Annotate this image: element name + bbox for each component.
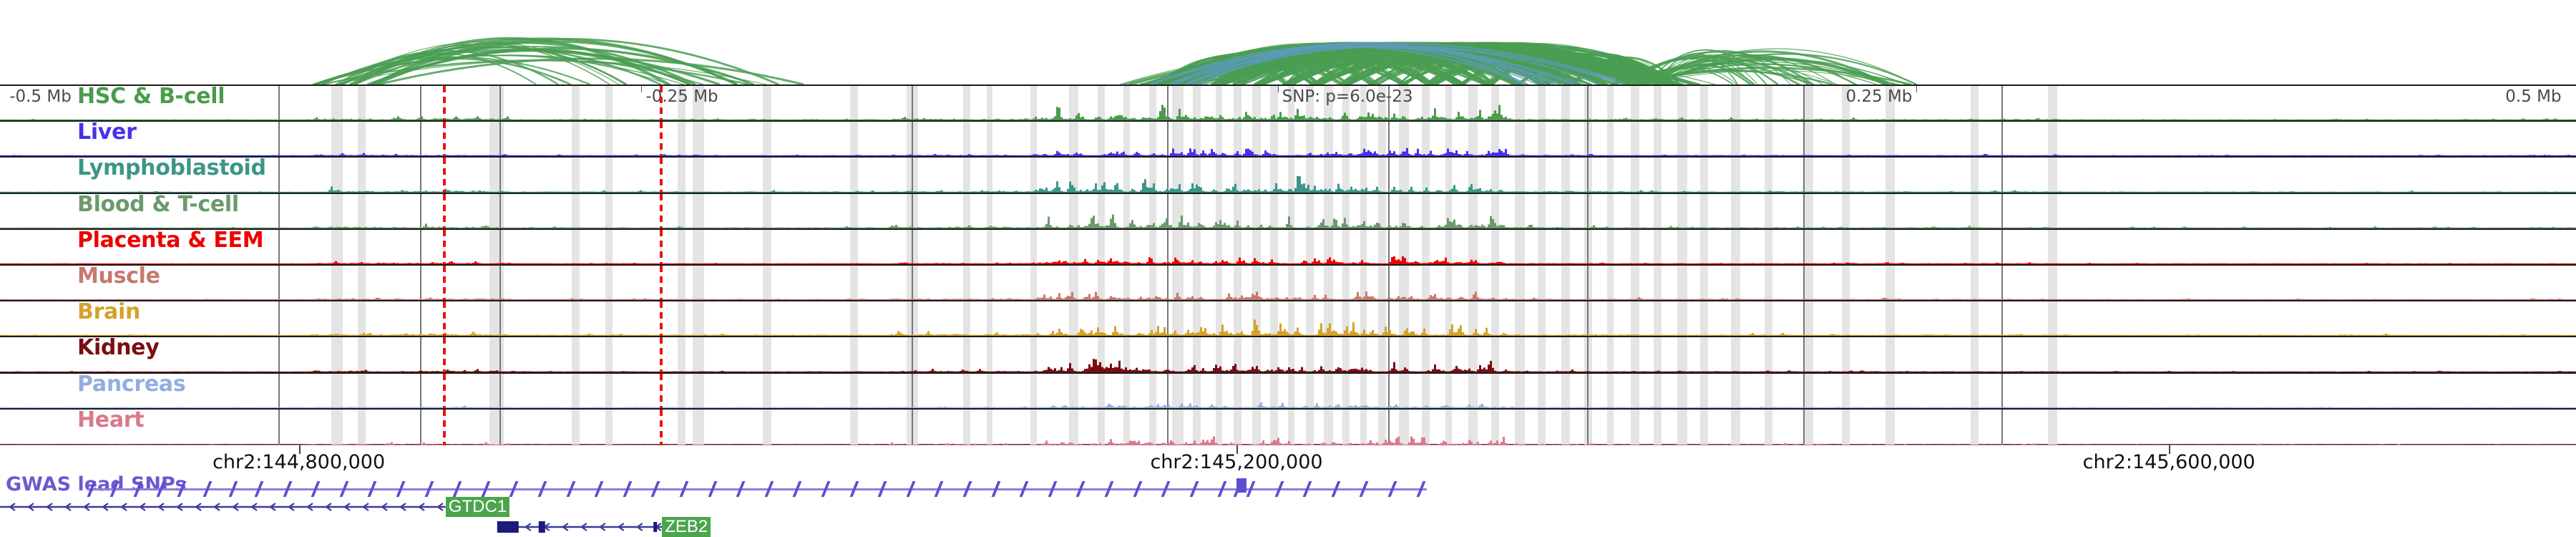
track-label-blood-t-cell: Blood & T-cell bbox=[77, 194, 239, 217]
snp-boundary-line bbox=[443, 374, 446, 408]
snp-boundary-line bbox=[660, 86, 663, 120]
axis-label: SNP: p=6.0e-23 bbox=[1282, 87, 1413, 106]
track-muscle[interactable]: Muscle bbox=[0, 266, 2576, 301]
signal-histogram-blood-t-cell bbox=[0, 197, 2576, 228]
track-heart[interactable]: Heart bbox=[0, 410, 2576, 445]
snp-boundary-line bbox=[443, 230, 446, 264]
signal-histogram-pancreas bbox=[0, 377, 2576, 408]
signal-histogram-brain bbox=[0, 304, 2576, 336]
axis-label: -0.5 Mb bbox=[9, 87, 72, 106]
track-kidney[interactable]: Kidney bbox=[0, 337, 2576, 373]
track-label-brain: Brain bbox=[77, 301, 140, 324]
signal-histogram-heart bbox=[0, 414, 2576, 445]
snp-boundary-line bbox=[660, 374, 663, 408]
track-lymphoblastoid[interactable]: Lymphoblastoid bbox=[0, 158, 2576, 193]
snp-boundary-line bbox=[660, 266, 663, 300]
axis-tick bbox=[641, 86, 642, 92]
snp-boundary-line bbox=[660, 230, 663, 264]
snp-boundary-line bbox=[443, 158, 446, 192]
track-hsc-b-cell[interactable]: -0.5 Mb-0.25 MbSNP: p=6.0e-230.25 Mb0.5 … bbox=[0, 86, 2576, 122]
axis-label: -0.25 Mb bbox=[645, 87, 718, 106]
snp-boundary-line bbox=[660, 410, 663, 445]
ruler-label: chr2:145,600,000 bbox=[2083, 452, 2255, 473]
track-label-hsc-b-cell: HSC & B-cell bbox=[77, 86, 225, 109]
gwas-lead-snp-highlight[interactable] bbox=[1236, 478, 1246, 493]
signal-tracks: -0.5 Mb-0.25 MbSNP: p=6.0e-230.25 Mb0.5 … bbox=[0, 84, 2576, 444]
track-label-pancreas: Pancreas bbox=[77, 374, 185, 397]
axis-label: 0.25 Mb bbox=[1845, 87, 1912, 106]
snp-boundary-line bbox=[660, 301, 663, 336]
track-brain[interactable]: Brain bbox=[0, 301, 2576, 337]
snp-boundary-line bbox=[660, 158, 663, 192]
axis-label: 0.5 Mb bbox=[2505, 87, 2561, 106]
snp-boundary-line bbox=[660, 122, 663, 156]
gene-annotation-track[interactable]: GTDC1ZEB2 bbox=[0, 494, 2576, 537]
snp-boundary-line bbox=[443, 266, 446, 300]
track-placenta-eem[interactable]: Placenta & EEM bbox=[0, 230, 2576, 266]
track-liver[interactable]: Liver bbox=[0, 122, 2576, 158]
snp-boundary-line bbox=[443, 122, 446, 156]
track-label-liver: Liver bbox=[77, 122, 137, 145]
gene-label-zeb2[interactable]: ZEB2 bbox=[662, 517, 711, 537]
chromatin-loop-arcs bbox=[0, 0, 2576, 84]
ruler-label: chr2:144,800,000 bbox=[213, 452, 385, 473]
track-label-kidney: Kidney bbox=[77, 337, 159, 360]
signal-histogram-lymphoblastoid bbox=[0, 161, 2576, 193]
track-label-muscle: Muscle bbox=[77, 266, 160, 289]
signal-histogram-kidney bbox=[0, 341, 2576, 372]
snp-boundary-line bbox=[660, 194, 663, 228]
axis-tick bbox=[1278, 86, 1279, 92]
snp-boundary-line bbox=[443, 410, 446, 445]
ruler-label: chr2:145,200,000 bbox=[1150, 452, 1322, 473]
genome-browser: -0.5 Mb-0.25 MbSNP: p=6.0e-230.25 Mb0.5 … bbox=[0, 0, 2576, 537]
track-label-placenta-eem: Placenta & EEM bbox=[77, 230, 263, 253]
gene-label-gtdc1[interactable]: GTDC1 bbox=[446, 497, 509, 517]
signal-histogram-placenta-eem bbox=[0, 233, 2576, 264]
track-blood-t-cell[interactable]: Blood & T-cell bbox=[0, 194, 2576, 230]
coordinate-ruler: chr2:144,800,000chr2:145,200,000chr2:145… bbox=[0, 444, 2576, 477]
snp-boundary-line bbox=[443, 301, 446, 336]
track-label-heart: Heart bbox=[77, 410, 144, 432]
snp-boundary-line bbox=[443, 194, 446, 228]
axis-tick bbox=[1916, 86, 1917, 92]
snp-boundary-line bbox=[660, 337, 663, 372]
track-pancreas[interactable]: Pancreas bbox=[0, 374, 2576, 410]
signal-histogram-liver bbox=[0, 125, 2576, 156]
snp-boundary-line bbox=[443, 337, 446, 372]
track-label-lymphoblastoid: Lymphoblastoid bbox=[77, 158, 266, 180]
signal-histogram-muscle bbox=[0, 268, 2576, 300]
snp-boundary-line bbox=[443, 86, 446, 120]
